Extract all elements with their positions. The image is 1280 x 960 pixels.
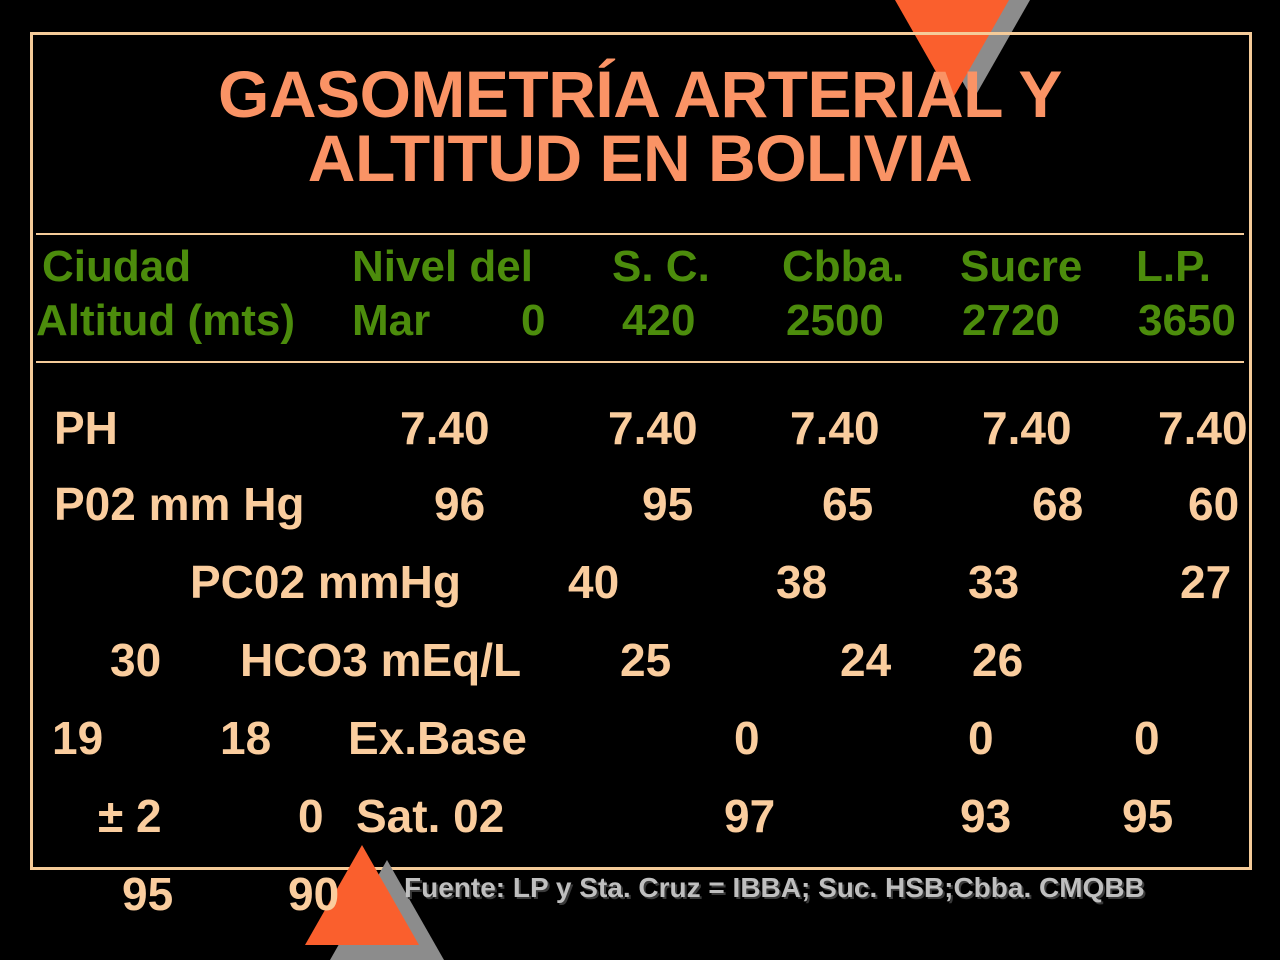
- header-col-la-paz: L.P.: [1136, 240, 1211, 294]
- cell-exbase-la-paz-carry: 0: [298, 778, 324, 854]
- header-col-cochabamba: Cbba.: [782, 240, 904, 294]
- page-title: GASOMETRÍA ARTERIAL Y ALTITUD EN BOLIVIA: [40, 62, 1240, 190]
- cell-sat-santa-cruz: 93: [960, 778, 1011, 854]
- cell-pco2-cochabamba: 33: [968, 544, 1019, 620]
- page-title-line-1: GASOMETRÍA ARTERIAL Y: [40, 62, 1240, 126]
- table-row: 19 18 Ex.Base 0 0 0: [0, 700, 1280, 776]
- slide-canvas: GASOMETRÍA ARTERIAL Y ALTITUD EN BOLIVIA…: [0, 0, 1280, 960]
- table-row: P02 mm Hg 96 95 65 68 60: [0, 466, 1280, 542]
- cell-exbase-santa-cruz: 0: [968, 700, 994, 776]
- cell-pco2-santa-cruz: 38: [776, 544, 827, 620]
- cell-pco2-nivel-mar: 40: [568, 544, 619, 620]
- header-label-ciudad: Ciudad: [42, 240, 191, 294]
- cell-hco3-la-paz-carry: 18: [220, 700, 271, 776]
- source-note: Fuente: LP y Sta. Cruz = IBBA; Suc. HSB;…: [404, 872, 1145, 904]
- row-label-po2: P02 mm Hg: [54, 466, 305, 542]
- cell-po2-la-paz: 60: [1188, 466, 1239, 542]
- header-altitude-la-paz: 3650: [1138, 294, 1236, 348]
- cell-sat-sucre-carry: 95: [122, 856, 173, 932]
- cell-po2-cochabamba: 65: [822, 466, 873, 542]
- header-value-nivel-del-mar: Mar: [352, 294, 430, 348]
- header-col-nivel-del: Nivel del: [352, 240, 533, 294]
- cell-hco3-nivel-mar: 25: [620, 622, 671, 698]
- header-rule-bottom: [36, 361, 1244, 363]
- row-label-hco3: HCO3 mEq/L: [240, 622, 521, 698]
- cell-hco3-santa-cruz: 24: [840, 622, 891, 698]
- header-altitude-santa-cruz: 420: [622, 294, 695, 348]
- table-row: 30 HCO3 mEq/L 25 24 26: [0, 622, 1280, 698]
- cell-po2-santa-cruz: 95: [642, 466, 693, 542]
- cell-po2-nivel-mar: 96: [434, 466, 485, 542]
- cell-ph-sucre: 7.40: [982, 390, 1072, 466]
- cell-exbase-nivel-mar: 0: [734, 700, 760, 776]
- header-altitude-sucre: 2720: [962, 294, 1060, 348]
- header-altitude-nivel-mar: 0: [521, 294, 545, 348]
- header-altitude-cochabamba: 2500: [786, 294, 884, 348]
- header-col-santa-cruz: S. C.: [612, 240, 710, 294]
- cell-pco2-sucre: 27: [1180, 544, 1231, 620]
- row-label-ex-base: Ex.Base: [348, 700, 527, 776]
- header-rule-top: [36, 233, 1244, 235]
- row-label-ph: PH: [54, 390, 118, 466]
- cell-hco3-sucre-carry: 19: [52, 700, 103, 776]
- cell-sat-cochabamba: 95: [1122, 778, 1173, 854]
- cell-ph-nivel-mar: 7.40: [400, 390, 490, 466]
- cell-ph-santa-cruz: 7.40: [608, 390, 698, 466]
- cell-exbase-cochabamba: 0: [1134, 700, 1160, 776]
- header-label-altitud: Altitud (mts): [36, 294, 295, 348]
- table-row: PH 7.40 7.40 7.40 7.40 7.40: [0, 390, 1280, 466]
- cell-po2-sucre: 68: [1032, 466, 1083, 542]
- cell-sat-nivel-mar: 97: [724, 778, 775, 854]
- cell-sat-la-paz-carry: 90: [288, 856, 339, 932]
- table-header-row-2: Altitud (mts) Mar 0 420 2500 2720 3650: [0, 294, 1280, 348]
- table-header-row-1: Ciudad Nivel del S. C. Cbba. Sucre L.P.: [0, 240, 1280, 294]
- table-header: Ciudad Nivel del S. C. Cbba. Sucre L.P. …: [0, 240, 1280, 360]
- cell-hco3-cochabamba: 26: [972, 622, 1023, 698]
- header-col-sucre: Sucre: [960, 240, 1082, 294]
- cell-exbase-sucre-carry: ± 2: [98, 778, 162, 854]
- table-row: ± 2 0 Sat. 02 97 93 95: [0, 778, 1280, 854]
- table-row: PC02 mmHg 40 38 33 27: [0, 544, 1280, 620]
- cell-ph-la-paz: 7.40: [1158, 390, 1248, 466]
- row-label-pco2: PC02 mmHg: [190, 544, 461, 620]
- cell-pco2-la-paz-carry: 30: [110, 622, 161, 698]
- page-title-line-2: ALTITUD EN BOLIVIA: [40, 126, 1240, 190]
- row-label-sat-o2: Sat. 02: [356, 778, 504, 854]
- cell-ph-cochabamba: 7.40: [790, 390, 880, 466]
